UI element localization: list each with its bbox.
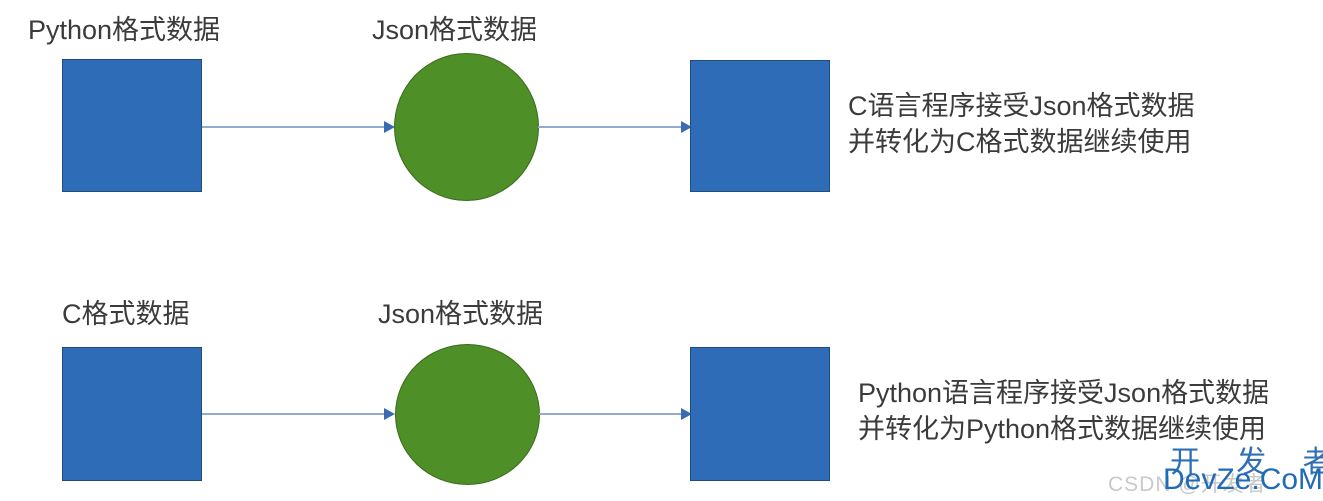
row2-source-label: C格式数据 [62, 298, 190, 330]
row2-arrow-left-icon [384, 408, 395, 420]
row1-connector-left [202, 126, 392, 128]
row1-middle-label: Json格式数据 [372, 14, 537, 46]
row2-middle-label: Json格式数据 [378, 298, 543, 330]
row1-description: C语言程序接受Json格式数据 并转化为C格式数据继续使用 [848, 88, 1195, 160]
row1-description-line-1: C语言程序接受Json格式数据 [848, 88, 1195, 124]
watermark-brand-domain: DevZe.CoM [1163, 463, 1323, 497]
row1-source-box [62, 59, 202, 192]
row1-description-line-2: 并转化为C格式数据继续使用 [848, 124, 1195, 160]
row1-source-label: Python格式数据 [28, 14, 220, 46]
row2-connector-left [202, 413, 392, 415]
row2-description-line-1: Python语言程序接受Json格式数据 [858, 375, 1269, 411]
row2-connector-right [539, 413, 690, 415]
row1-json-circle [394, 53, 539, 201]
row1-connector-right [538, 126, 690, 128]
row1-target-box [690, 60, 830, 192]
row2-source-box [62, 347, 202, 481]
row2-target-box [690, 347, 830, 481]
diagram-canvas: Python格式数据 Json格式数据 C语言程序接受Json格式数据 并转化为… [0, 0, 1323, 501]
row2-json-circle [395, 344, 540, 485]
